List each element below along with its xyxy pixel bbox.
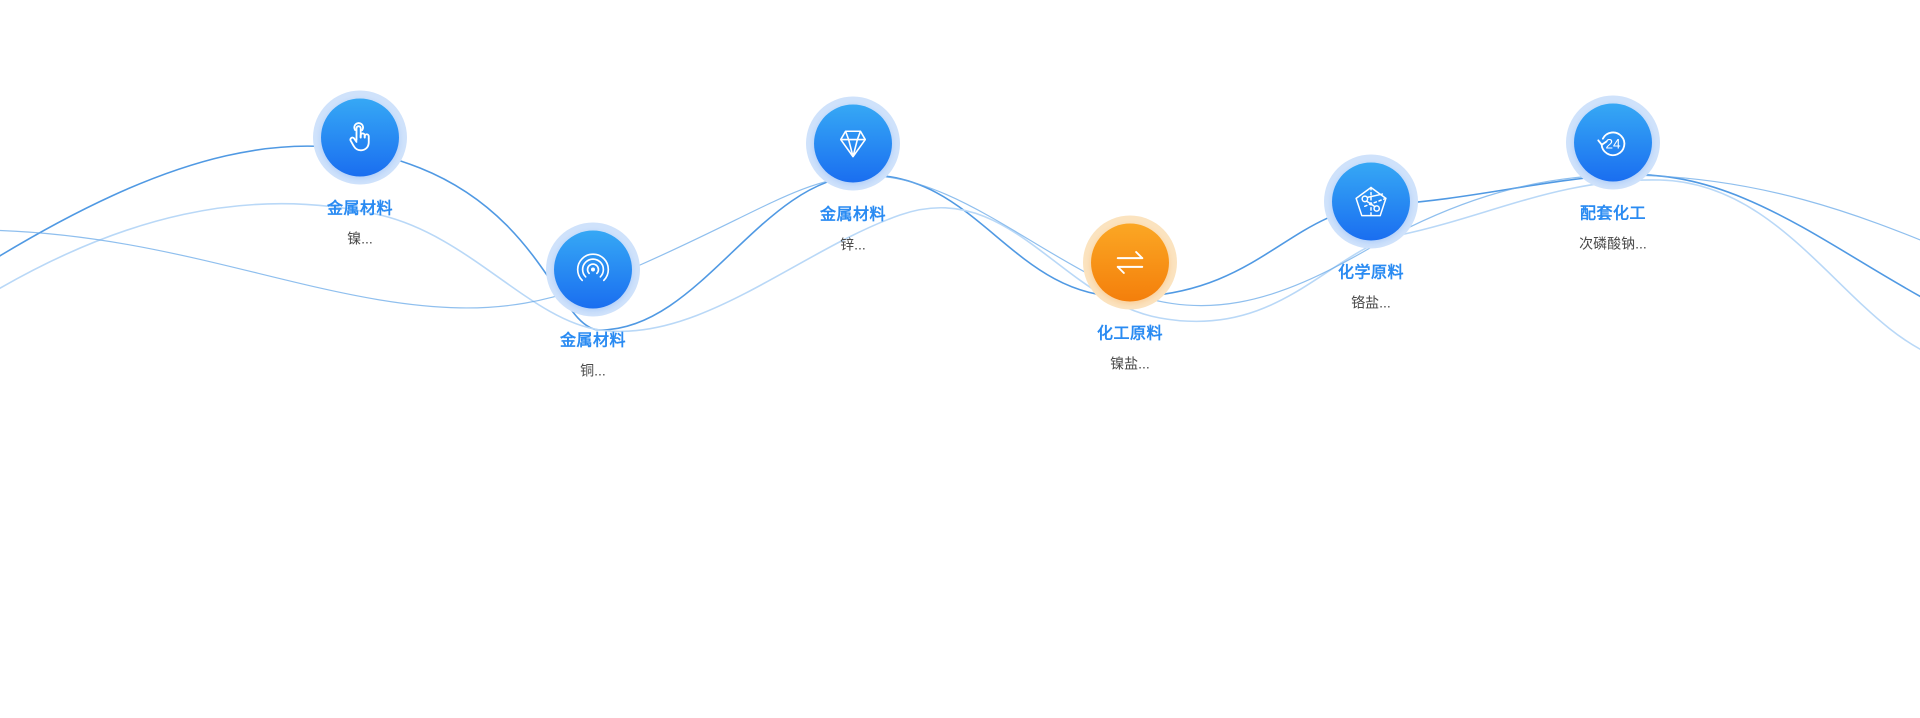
node-title[interactable]: 化学原料 xyxy=(1338,266,1404,282)
node-halo-ring xyxy=(806,97,900,191)
node-halo-ring xyxy=(313,91,407,185)
node-icon-badge[interactable]: 24 xyxy=(1574,104,1652,182)
flow-node-5[interactable]: 化学原料铬盐... xyxy=(1271,155,1471,310)
node-halo-ring xyxy=(1083,216,1177,310)
node-subtitle[interactable]: 铬盐... xyxy=(1351,296,1391,310)
signal-radar-icon xyxy=(572,249,614,291)
node-icon-badge[interactable] xyxy=(554,231,632,309)
node-icon-badge[interactable] xyxy=(1332,163,1410,241)
node-subtitle[interactable]: 次磷酸钠... xyxy=(1579,237,1647,251)
node-subtitle[interactable]: 铜... xyxy=(580,364,606,378)
node-title[interactable]: 金属材料 xyxy=(327,202,393,218)
flow-diagram-stage: 金属材料镍... 金属材料铜... 金属材料锌... 化工原料镍盐... 化学原… xyxy=(0,0,1920,718)
exchange-arrows-icon xyxy=(1109,242,1151,284)
node-title[interactable]: 金属材料 xyxy=(560,334,626,350)
node-icon-badge[interactable] xyxy=(814,105,892,183)
hand-click-icon xyxy=(339,117,381,159)
flow-node-3[interactable]: 金属材料锌... xyxy=(753,97,953,252)
svg-text:24: 24 xyxy=(1605,136,1621,151)
node-halo-ring xyxy=(1324,155,1418,249)
node-subtitle[interactable]: 镍盐... xyxy=(1110,357,1150,371)
node-title[interactable]: 配套化工 xyxy=(1580,207,1646,223)
node-title[interactable]: 化工原料 xyxy=(1097,327,1163,343)
node-title[interactable]: 金属材料 xyxy=(820,208,886,224)
node-icon-badge[interactable] xyxy=(321,99,399,177)
flow-node-6[interactable]: 24 配套化工次磷酸钠... xyxy=(1513,96,1713,251)
node-halo-ring: 24 xyxy=(1566,96,1660,190)
node-subtitle[interactable]: 锌... xyxy=(840,238,866,252)
node-icon-badge[interactable] xyxy=(1091,224,1169,302)
node-halo-ring xyxy=(546,223,640,317)
node-subtitle[interactable]: 镍... xyxy=(347,232,373,246)
molecule-pentagon-icon xyxy=(1350,181,1392,223)
diamond-icon xyxy=(832,123,874,165)
flow-node-4[interactable]: 化工原料镍盐... xyxy=(1030,216,1230,371)
service-24h-icon: 24 xyxy=(1592,122,1634,164)
flow-node-1[interactable]: 金属材料镍... xyxy=(260,91,460,246)
flow-node-2[interactable]: 金属材料铜... xyxy=(493,223,693,378)
